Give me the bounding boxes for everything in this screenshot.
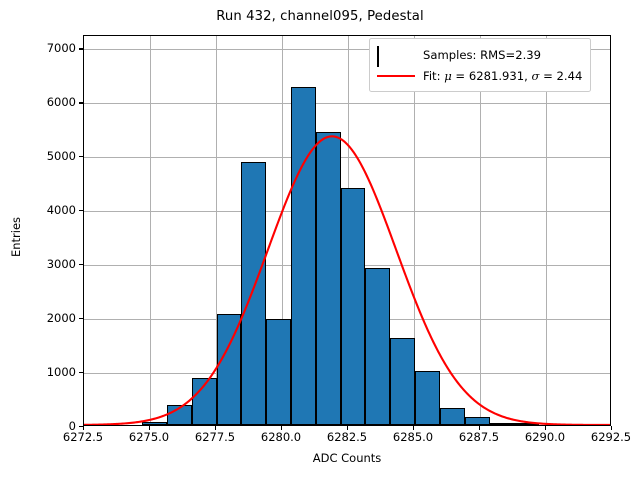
legend-patch-icon [377,47,415,63]
legend-fit-sigma-value: = 2.44 [539,69,582,83]
legend-entry-samples: Samples: RMS=2.39 [377,44,582,65]
legend-label-samples: Samples: RMS=2.39 [423,48,541,62]
legend-label-fit: Fit: μ = 6281.931, σ = 2.44 [423,69,582,83]
y-tick-mark [79,48,83,49]
legend-entry-fit: Fit: μ = 6281.931, σ = 2.44 [377,65,582,86]
y-tick-mark [79,264,83,265]
legend-line-icon [377,68,415,84]
chart-title: Run 432, channel095, Pedestal [0,9,640,24]
x-tick-mark [281,426,282,430]
x-tick-mark [215,426,216,430]
figure-canvas: Run 432, channel095, Pedestal 0100020003… [0,0,640,480]
x-tick-mark [347,426,348,430]
legend-fit-prefix: Fit: [423,69,444,83]
x-axis-label: ADC Counts [83,451,611,465]
y-tick-label: 7000 [30,41,76,55]
y-tick-mark [79,210,83,211]
fit-curve-svg [84,36,610,425]
y-tick-label: 2000 [30,311,76,325]
y-tick-label: 4000 [30,203,76,217]
y-tick-mark [79,102,83,103]
fit-curve-path [84,136,610,425]
y-tick-mark [79,156,83,157]
x-tick-mark [413,426,414,430]
x-tick-label: 6292.5 [566,430,640,444]
legend-fit-mu-value: = 6281.931, [452,69,532,83]
x-tick-mark [83,426,84,430]
y-tick-label: 1000 [30,365,76,379]
y-tick-label: 5000 [30,149,76,163]
fit-curve [84,36,610,425]
y-axis-label: Entries [9,157,23,317]
x-tick-mark [479,426,480,430]
x-tick-mark [149,426,150,430]
plot-area [83,35,611,426]
y-tick-mark [79,318,83,319]
x-tick-mark [545,426,546,430]
y-tick-mark [79,372,83,373]
y-tick-label: 3000 [30,257,76,271]
legend-fit-mu-symbol: μ [444,69,452,83]
y-tick-label: 6000 [30,95,76,109]
x-tick-mark [611,426,612,430]
legend: Samples: RMS=2.39 Fit: μ = 6281.931, σ =… [369,38,591,92]
